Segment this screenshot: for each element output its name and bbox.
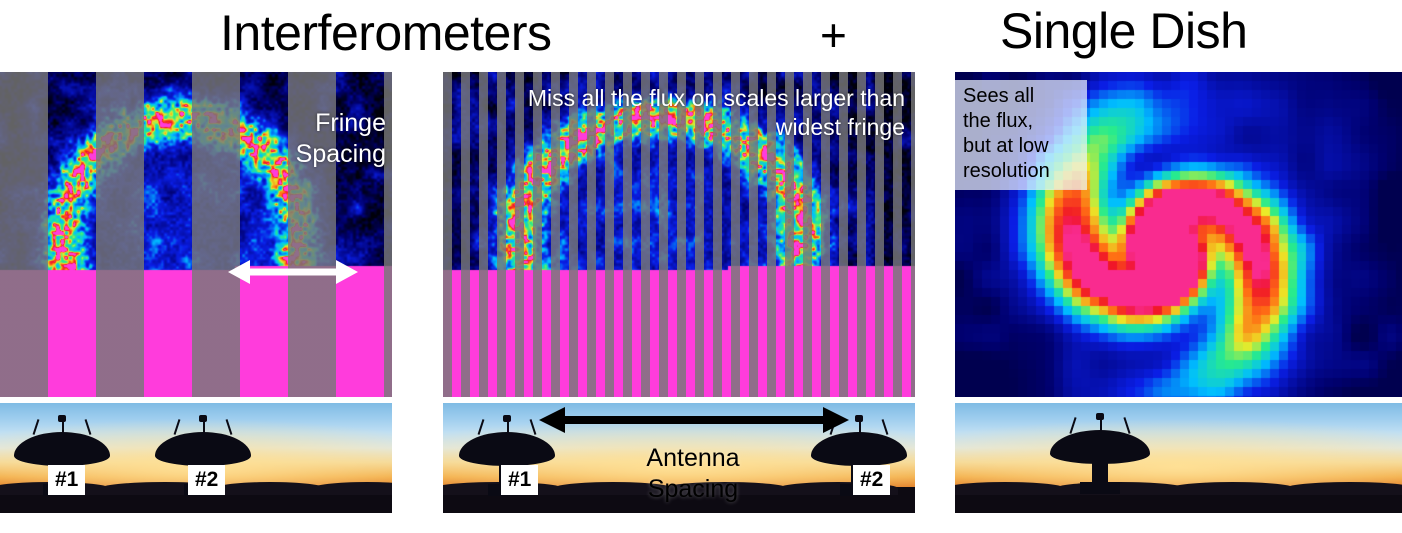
panel-interferometer-narrow-sky: Miss all the flux on scales larger than …: [443, 72, 915, 397]
panel-single-dish-antenna: [955, 403, 1402, 513]
antenna-label-1: #1: [48, 465, 85, 495]
page-title-single-dish: Single Dish: [1000, 6, 1247, 56]
fringe-spacing-arrow: [228, 254, 358, 290]
caption-fringe-spacing-line1: Fringe: [156, 108, 386, 139]
antenna-label-2: #2: [188, 465, 225, 495]
antenna-base: [1080, 482, 1120, 494]
caption-miss-flux: Miss all the flux on scales larger than …: [485, 84, 905, 142]
caption-miss-flux-line1: Miss all the flux on scales larger than: [485, 84, 905, 113]
caption-sees-all-line2: the flux,: [963, 109, 1081, 134]
panel-interferometer-wide-sky: Fringe Spacing: [0, 72, 392, 397]
antenna-spacing-arrow: [539, 405, 849, 437]
antenna-label-2: #2: [853, 465, 890, 495]
caption-miss-flux-line2: widest fringe: [485, 113, 905, 142]
hill-silhouette: [1285, 482, 1402, 495]
caption-antenna-spacing-line1: Antenna: [593, 443, 793, 474]
hill-silhouette: [312, 482, 392, 495]
panel-single-dish-sky: Sees all the flux, but at low resolution: [955, 72, 1402, 397]
antenna-label-1: #1: [501, 465, 538, 495]
caption-fringe-spacing: Fringe Spacing: [156, 108, 386, 170]
panel-interferometer-wide-antennas: #1 #2: [0, 403, 392, 513]
title-plus-symbol: +: [820, 10, 846, 60]
caption-sees-all-line1: Sees all: [963, 84, 1081, 109]
caption-sees-all-line4: resolution: [963, 159, 1081, 184]
page-title-interferometers: Interferometers: [220, 8, 552, 58]
antenna-dish-single: [1050, 430, 1150, 496]
panel-interferometer-narrow-antennas: #1 #2 Antenna Spacing: [443, 403, 915, 513]
caption-antenna-spacing: Antenna Spacing: [593, 443, 793, 505]
caption-sees-all-line3: but at low: [963, 134, 1081, 159]
caption-fringe-spacing-line2: Spacing: [156, 139, 386, 170]
hill-silhouette: [955, 482, 1065, 495]
caption-sees-all-flux: Sees all the flux, but at low resolution: [955, 80, 1087, 190]
caption-antenna-spacing-line2: Spacing: [593, 474, 793, 505]
title-row: Interferometers + Single Dish: [0, 0, 1402, 72]
hill-silhouette: [1170, 482, 1295, 495]
